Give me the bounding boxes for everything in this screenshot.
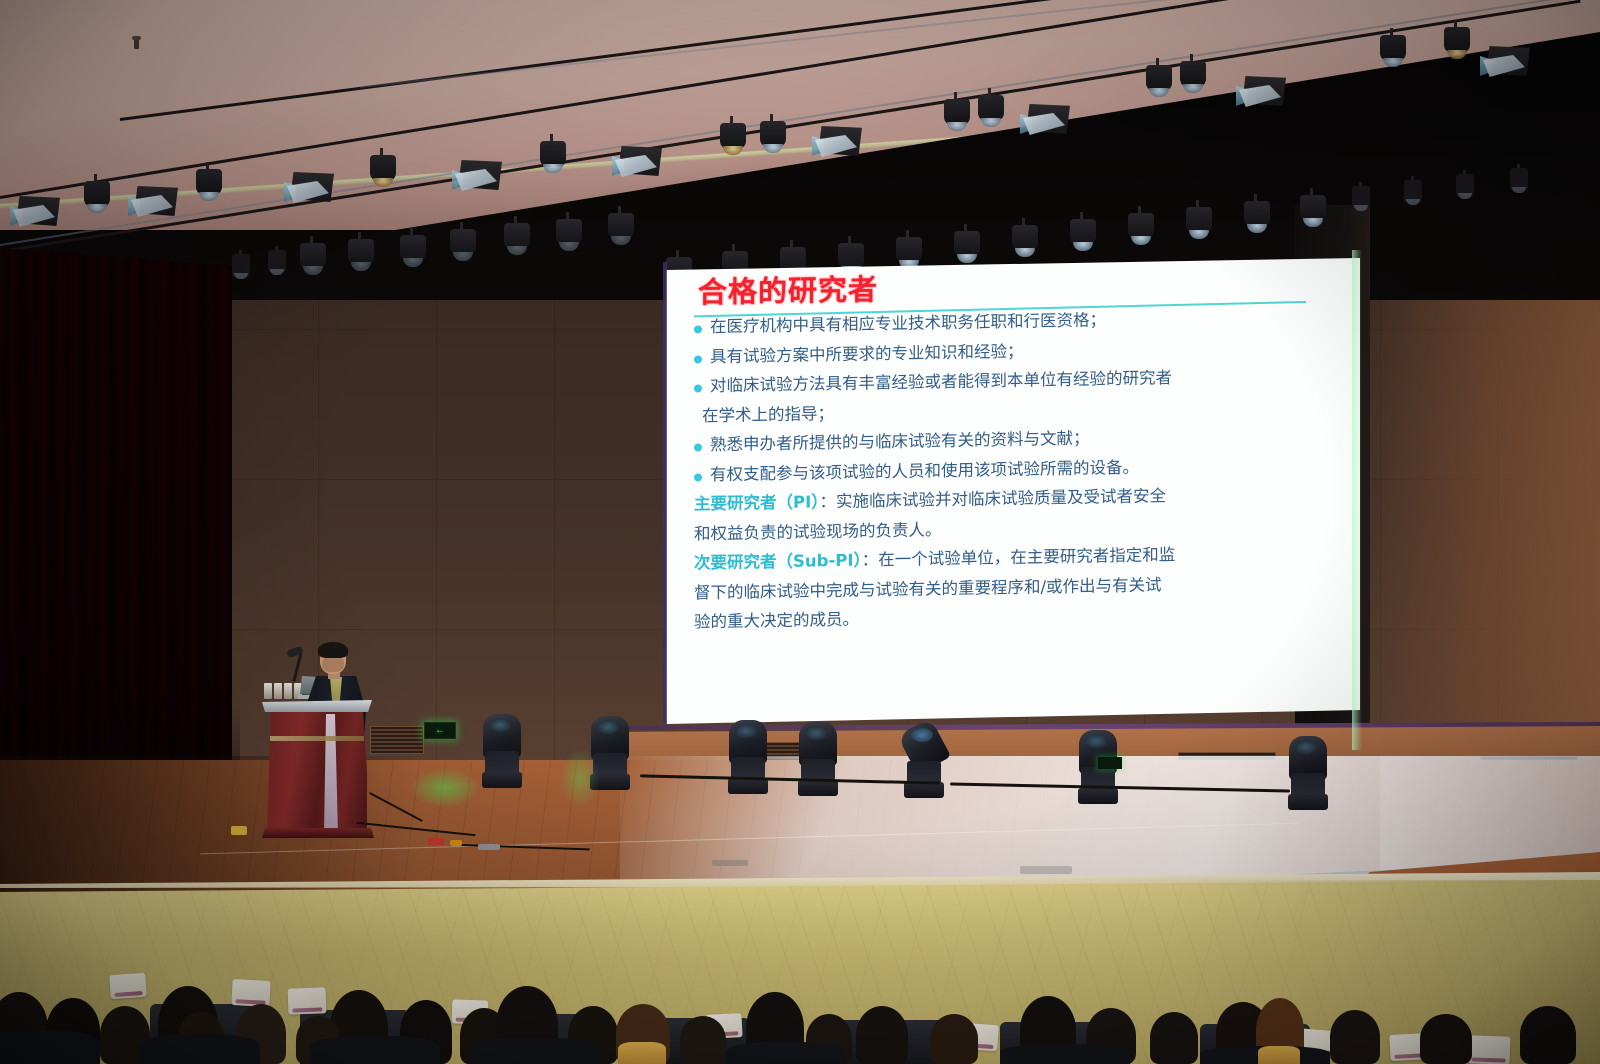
floor-prop-plate <box>1020 866 1072 874</box>
slide-paragraph-line: 督下的临床试验中完成与试验有关的重要程序和/或作出与有关试 <box>694 574 1334 602</box>
sprinkler-head-icon <box>134 38 139 49</box>
spot-light-icon <box>1012 218 1038 256</box>
floor-prop-plate <box>478 844 500 850</box>
bullet-text: 具有试验方案中所要求的专业知识和经验； <box>710 343 1024 365</box>
spot-light-icon <box>608 206 634 244</box>
audience-yellow-garment <box>618 1042 666 1064</box>
audience-head <box>856 1006 908 1064</box>
par-can-light-icon <box>540 134 566 172</box>
stage-photograph: 合格的研究者 在医疗机构中具有相应专业技术职务任职和行医资格； 具有试验方案中所… <box>0 0 1600 1064</box>
audience-head <box>1330 1010 1380 1064</box>
water-bottles <box>264 683 302 699</box>
par-can-light-icon <box>1180 54 1206 92</box>
spot-light-icon <box>1128 206 1154 244</box>
moving-head-light <box>726 720 770 794</box>
nurse-cap <box>231 979 270 1007</box>
spot-light-icon <box>400 228 426 266</box>
spot-light-icon <box>1070 212 1096 250</box>
fresnel-light-icon <box>1480 46 1532 80</box>
audience-head <box>930 1014 978 1064</box>
fresnel-light-icon <box>284 172 336 206</box>
podium <box>262 700 372 840</box>
slide-bullet: 具有试验方案中所要求的专业知识和经验； <box>694 338 1334 366</box>
par-can-light-icon <box>1146 58 1172 96</box>
bullet-text: 有权支配参与该项试验的人员和使用该项试验所需的设备。 <box>710 459 1139 483</box>
floor-prop-connector <box>450 840 462 846</box>
slide-paragraph-line: 主要研究者（PI）：实施临床试验并对临床试验质量及受试者安全 <box>694 485 1334 513</box>
audience-head <box>1420 1014 1472 1064</box>
slide-bullet: 有权支配参与该项试验的人员和使用该项试验所需的设备。 <box>694 456 1334 484</box>
exit-sign: ← <box>424 722 456 739</box>
slide-paragraph-line: 次要研究者（Sub-PI）：在一个试验单位，在主要研究者指定和监 <box>694 544 1334 572</box>
exit-arrow-icon: ← <box>435 726 445 736</box>
bullet-dot-icon <box>694 355 702 363</box>
par-can-light-icon <box>978 88 1004 126</box>
spot-light-icon <box>348 232 374 270</box>
wall-light-wash <box>1350 300 1600 780</box>
audience-shoulders <box>726 1042 846 1064</box>
profile-spot-icon <box>1404 176 1422 206</box>
bullet-dot-icon <box>694 384 702 392</box>
moving-head-light <box>796 722 840 796</box>
spot-light-icon <box>954 224 980 262</box>
bullet-text: 熟悉申办者所提供的与临床试验有关的资料与文献； <box>710 431 1090 454</box>
audience-head <box>1520 1006 1576 1064</box>
bullet-text: 对临床试验方法具有丰富经验或者能得到本单位有经验的研究者 <box>710 370 1172 395</box>
profile-spot-icon <box>1352 182 1370 212</box>
paragraph-text: 和权益负责的试验现场的负责人。 <box>694 520 942 543</box>
fresnel-light-icon <box>1236 76 1288 110</box>
spot-light-icon <box>556 212 582 250</box>
par-can-light-icon <box>370 148 396 186</box>
bullet-dot-icon <box>694 473 702 481</box>
spot-light-icon <box>1300 188 1326 226</box>
par-can-light-icon <box>196 162 222 200</box>
slide-bullet-continuation: 在学术上的指导； <box>694 397 1334 425</box>
green-light-spill <box>410 768 480 808</box>
bullet-dot-icon <box>694 443 702 451</box>
par-can-light-icon <box>760 114 786 152</box>
nurse-cap <box>1468 1035 1511 1064</box>
slide-bullet: 对临床试验方法具有丰富经验或者能得到本单位有经验的研究者 <box>694 367 1334 395</box>
speaker-face-shadow <box>322 656 344 672</box>
paragraph-text: 督下的临床试验中完成与试验有关的重要程序和/或作出与有关试 <box>694 575 1162 602</box>
spot-light-icon <box>1186 200 1212 238</box>
par-can-light-icon <box>1444 20 1470 58</box>
bullet-text: 在学术上的指导； <box>702 406 834 425</box>
bullet-text: 在医疗机构中具有相应专业技术职务任职和行医资格； <box>710 312 1106 335</box>
bullet-dot-icon <box>694 325 702 333</box>
spot-light-icon <box>300 236 326 274</box>
par-can-light-icon <box>944 92 970 130</box>
floor-prop-plate <box>712 860 748 866</box>
green-light-spill <box>560 748 600 808</box>
par-can-light-icon <box>84 174 110 212</box>
floor-prop-connector <box>428 838 444 845</box>
audience-shoulders <box>1000 1044 1130 1064</box>
fresnel-light-icon <box>1020 104 1072 138</box>
fresnel-light-icon <box>812 126 864 160</box>
profile-spot-icon <box>232 250 250 280</box>
floor-prop-tape <box>231 826 247 835</box>
fresnel-light-icon <box>612 146 664 180</box>
exit-sign-secondary <box>1098 757 1122 769</box>
par-can-light-icon <box>720 116 746 154</box>
slide-title: 合格的研究者 <box>698 266 878 311</box>
fresnel-light-icon <box>10 196 62 230</box>
paragraph-text: ：实施临床试验并对临床试验质量及受试者安全 <box>819 486 1166 511</box>
fresnel-light-icon <box>128 186 180 220</box>
audience-head <box>680 1016 726 1064</box>
par-can-light-icon <box>1380 28 1406 66</box>
fresnel-light-icon <box>452 160 504 194</box>
moving-head-light <box>480 714 524 788</box>
audience-yellow-garment <box>1258 1046 1300 1064</box>
nurse-cap <box>288 987 327 1014</box>
slide-paragraph-line: 验的重大决定的成员。 <box>694 603 1334 631</box>
paragraph-text: ：在一个试验单位，在主要研究者指定和监 <box>862 545 1176 569</box>
slide-bullet: 熟悉申办者所提供的与临床试验有关的资料与文献； <box>694 426 1334 454</box>
audience-shoulders <box>310 1036 440 1064</box>
audience-head <box>1150 1012 1198 1064</box>
profile-spot-icon <box>268 246 286 276</box>
spot-light-icon <box>504 216 530 254</box>
paragraph-lead: 次要研究者（Sub-PI） <box>694 551 862 573</box>
wall-vent <box>370 726 424 754</box>
audience-area <box>0 930 1600 1064</box>
spot-light-icon <box>450 222 476 260</box>
paragraph-lead: 主要研究者（PI） <box>694 492 819 513</box>
paragraph-text: 验的重大决定的成员。 <box>694 610 859 632</box>
audience-shoulders <box>470 1038 600 1064</box>
profile-spot-icon <box>1456 170 1474 200</box>
slide-paragraph-line: 和权益负责的试验现场的负责人。 <box>694 515 1334 543</box>
slide-content: 合格的研究者 在医疗机构中具有相应专业技术职务任职和行医资格； 具有试验方案中所… <box>666 246 1360 724</box>
audience-shoulders <box>140 1034 260 1064</box>
spot-light-icon <box>1244 194 1270 232</box>
profile-spot-icon <box>1510 164 1528 194</box>
speaker-hair <box>318 642 348 658</box>
nurse-cap <box>109 973 147 999</box>
moving-head-light <box>1286 736 1330 810</box>
moving-head-light <box>902 724 946 798</box>
audience-shoulders <box>0 1030 100 1064</box>
slide-body: 在医疗机构中具有相应专业技术职务任职和行医资格； 具有试验方案中所要求的专业知识… <box>694 308 1334 644</box>
